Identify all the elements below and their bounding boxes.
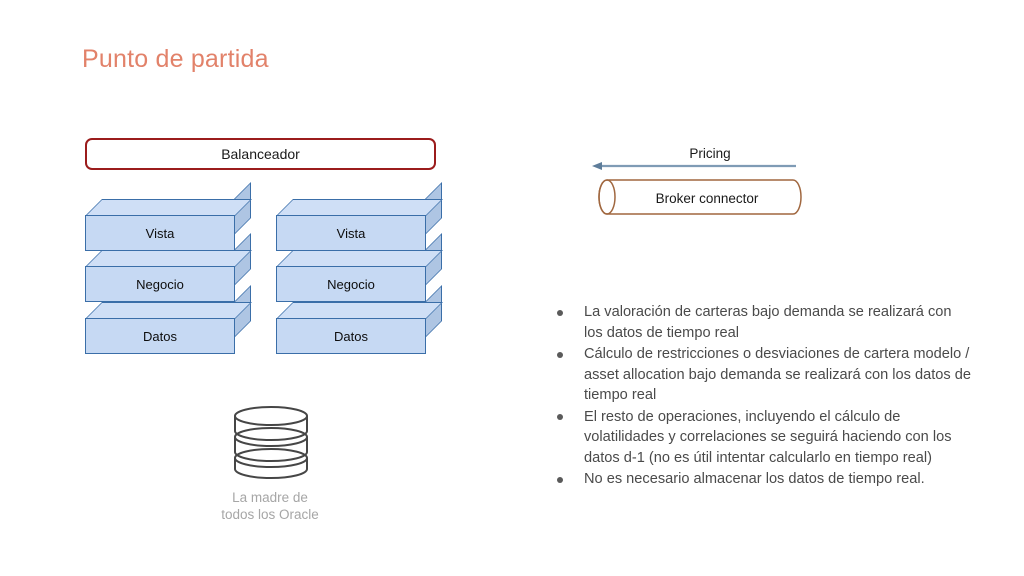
layer-label: Negocio [327, 278, 375, 291]
layer-label: Datos [143, 330, 177, 343]
database-caption-line-1: La madre de [180, 489, 360, 506]
layer-label: Vista [146, 227, 175, 240]
cube-top-face [276, 250, 443, 267]
database-caption: La madre de todos los Oracle [180, 489, 360, 523]
left-stack-layer-vista[interactable]: Vista [85, 199, 253, 252]
cube-top-face [85, 199, 252, 216]
layer-label: Datos [334, 330, 368, 343]
layer-label: Negocio [136, 278, 184, 291]
cube-front-face: Negocio [276, 266, 426, 302]
broker-connector-label: Broker connector [612, 191, 802, 206]
cube-top-face [85, 302, 252, 319]
cube-front-face: Datos [276, 318, 426, 354]
list-item: No es necesario almacenar los datos de t… [551, 469, 971, 490]
cube-top-face [276, 302, 443, 319]
cube-front-face: Negocio [85, 266, 235, 302]
cube-front-face: Vista [276, 215, 426, 251]
layer-label: Vista [337, 227, 366, 240]
cube-top-face [276, 199, 443, 216]
cube-front-face: Vista [85, 215, 235, 251]
left-stack-layer-negocio[interactable]: Negocio [85, 250, 253, 303]
list-item: El resto de operaciones, incluyendo el c… [551, 407, 971, 469]
left-stack-layer-datos[interactable]: Datos [85, 302, 253, 355]
database-caption-line-2: todos los Oracle [180, 506, 360, 523]
load-balancer-box[interactable]: Balanceador [85, 138, 436, 170]
right-stack-layer-negocio[interactable]: Negocio [276, 250, 444, 303]
cube-front-face: Datos [85, 318, 235, 354]
pricing-arrow-icon [592, 159, 802, 177]
list-item: La valoración de carteras bajo demanda s… [551, 302, 971, 343]
database-cylinder-icon [231, 404, 311, 485]
right-stack-layer-vista[interactable]: Vista [276, 199, 444, 252]
page-title: Punto de partida [82, 45, 269, 74]
notes-bullet-list: La valoración de carteras bajo demanda s… [551, 302, 971, 491]
cube-top-face [85, 250, 252, 267]
right-stack-layer-datos[interactable]: Datos [276, 302, 444, 355]
load-balancer-label: Balanceador [221, 146, 300, 162]
list-item: Cálculo de restricciones o desviaciones … [551, 344, 971, 406]
